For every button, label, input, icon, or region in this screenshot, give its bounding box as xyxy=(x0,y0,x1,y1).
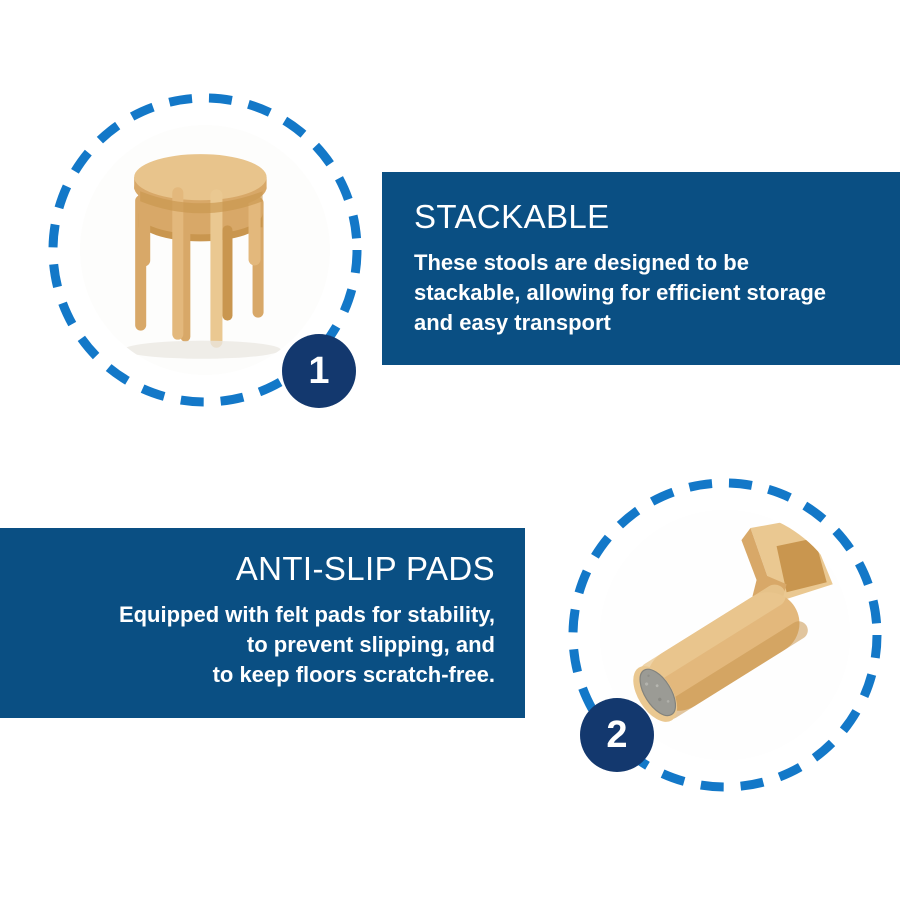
feature-2-body-line-3: to keep floors scratch-free. xyxy=(28,660,495,690)
step-badge-1: 1 xyxy=(282,334,356,408)
infographic-canvas: 1 STACKABLE These stools are designed to… xyxy=(0,0,900,900)
feature-1-body-line-2: stackable, allowing for efficient storag… xyxy=(414,278,872,308)
stacked-stools-illustration xyxy=(80,125,331,376)
step-badge-2: 2 xyxy=(580,698,654,772)
feature-2-body-line-2: to prevent slipping, and xyxy=(28,630,495,660)
feature-2-panel: ANTI-SLIP PADS Equipped with felt pads f… xyxy=(0,528,525,718)
feature-1-body-line-3: and easy transport xyxy=(414,308,872,338)
feature-2-media: 2 xyxy=(560,470,890,800)
feature-1-body-line-1: These stools are designed to be xyxy=(414,248,872,278)
feature-block-2: ANTI-SLIP PADS Equipped with felt pads f… xyxy=(0,450,900,900)
stool-photo xyxy=(80,125,331,376)
feature-1-heading: STACKABLE xyxy=(414,198,872,236)
feature-1-media: 1 xyxy=(40,85,370,415)
feature-block-1: 1 STACKABLE These stools are designed to… xyxy=(0,0,900,440)
feature-2-heading: ANTI-SLIP PADS xyxy=(28,550,495,588)
feature-2-body-line-1: Equipped with felt pads for stability, xyxy=(28,600,495,630)
feature-1-panel: STACKABLE These stools are designed to b… xyxy=(382,172,900,365)
